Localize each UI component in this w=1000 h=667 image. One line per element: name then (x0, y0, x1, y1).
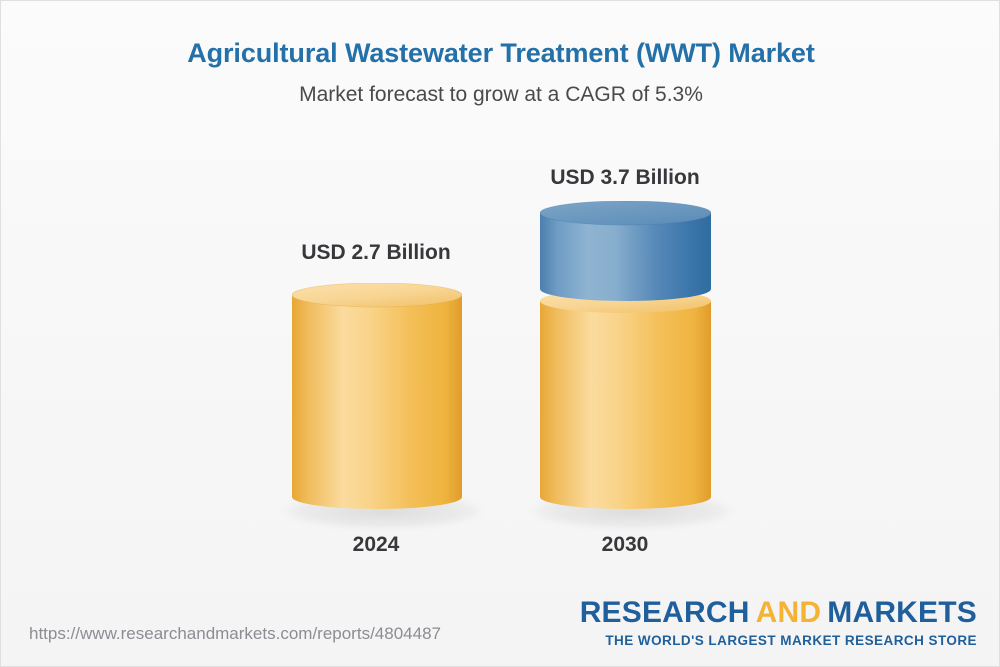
category-label-2030: 2030 (450, 533, 800, 557)
bar-cylinder-2030-growth[interactable] (540, 201, 711, 313)
chart-plot-area: USD 2.7 Billion USD 3.7 Billion (1, 1, 1000, 667)
logo-tagline: THE WORLD'S LARGEST MARKET RESEARCH STOR… (580, 633, 977, 648)
logo-word-markets: MARKETS (827, 596, 977, 629)
logo-word-and: AND (756, 596, 822, 629)
bar-cylinder-2024[interactable] (292, 283, 462, 521)
researchandmarkets-logo[interactable]: RESEARCHANDMARKETS THE WORLD'S LARGEST M… (580, 598, 977, 648)
bar-cylinder-2030-base[interactable] (540, 289, 711, 521)
chart-canvas: Agricultural Wastewater Treatment (WWT) … (0, 0, 1000, 667)
logo-wordmark: RESEARCHANDMARKETS (580, 598, 977, 628)
logo-word-research: RESEARCH (580, 596, 750, 629)
bar-value-label-2024: USD 2.7 Billion (201, 241, 551, 265)
bar-value-label-2030: USD 3.7 Billion (450, 166, 800, 190)
report-url-link[interactable]: https://www.researchandmarkets.com/repor… (29, 624, 441, 644)
